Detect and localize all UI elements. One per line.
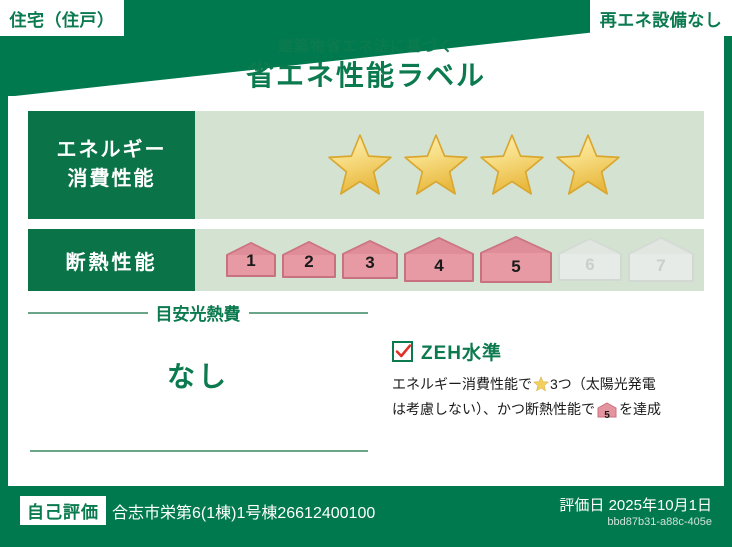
tab-building-type-label: 住宅（住戸） [10,6,115,31]
property-address: 合志市栄第6(1棟)1号棟26612400100 [112,499,375,523]
label-title-block: 建築物省エネ法に基づく 省エネ性能ラベル [0,38,732,93]
insulation-performance-label: 断熱性能 [28,229,195,291]
zeh-desc-line2-part1: は考慮しない）、かつ断熱性能で [392,401,595,417]
insulation-level-3: 3 [341,240,399,280]
insulation-level-2: 2 [281,241,337,279]
tab-renewable-energy-label: 再エネ設備なし [600,6,723,31]
insulation-performance-row: 断熱性能 1234567 [28,229,704,291]
utility-cost-bottom-rule [30,450,368,452]
energy-performance-label: 住宅（住戸） 再エネ設備なし 建築物省エネ法に基づく 省エネ性能ラベル エネルギ… [0,0,732,547]
energy-performance-label-line2: 消費性能 [68,165,156,194]
tab-building-type: 住宅（住戸） [0,0,124,36]
insulation-level-1: 1 [225,242,277,278]
energy-performance-label: エネルギー 消費性能 [28,111,195,219]
tab-renewable-energy: 再エネ設備なし [590,0,732,36]
label-subtitle: 建築物省エネ法に基づく [0,38,732,56]
inline-star-icon [533,379,549,395]
energy-star-rating [195,111,704,219]
insulation-level-scale: 1234567 [195,229,704,291]
label-uuid: bbd87b31-a88c-405e [607,516,712,528]
label-footer: 自己評価 合志市栄第6(1棟)1号棟26612400100 評価日 2025年1… [0,486,732,547]
inline-insulation-badge: 5 [597,402,617,425]
zeh-standard-title: ZEH水準 [421,338,502,365]
utility-cost-rule-right [249,312,369,314]
zeh-standard-description: エネルギー消費性能で3つ（太陽光発電 は考慮しない）、かつ断熱性能で5を達成 [392,374,708,424]
zeh-standard-block: ZEH水準 エネルギー消費性能で3つ（太陽光発電 は考慮しない）、かつ断熱性能で… [392,338,708,424]
inline-insulation-badge-value: 5 [597,408,617,424]
zeh-standard-header: ZEH水準 [392,338,708,365]
star-icon [327,133,393,197]
energy-performance-row: エネルギー 消費性能 [28,111,704,219]
utility-cost-heading: 目安光熱費 [28,300,368,325]
star-icon [555,133,621,197]
insulation-level-7: 7 [627,237,695,283]
self-evaluation-badge: 自己評価 [20,496,106,525]
insulation-level-6: 6 [557,238,623,282]
check-icon [395,343,412,360]
star-icon [403,133,469,197]
utility-cost-value: なし [28,355,368,395]
utility-cost-heading-text: 目安光熱費 [156,300,241,325]
insulation-level-5: 5 [479,236,553,284]
label-title: 省エネ性能ラベル [0,58,732,93]
zeh-desc-part2: 3つ（太陽光発電 [550,376,656,392]
insulation-performance-label-text: 断熱性能 [66,246,158,275]
utility-cost-rule-left [28,312,148,314]
star-icon [479,133,545,197]
energy-performance-label-line1: エネルギー [57,136,167,165]
zeh-checkbox [392,341,413,362]
evaluation-date: 評価日 2025年10月1日 [559,494,712,515]
zeh-desc-part1: エネルギー消費性能で [392,376,532,392]
insulation-level-4: 4 [403,237,475,283]
zeh-desc-line2-part2: を達成 [619,401,661,417]
